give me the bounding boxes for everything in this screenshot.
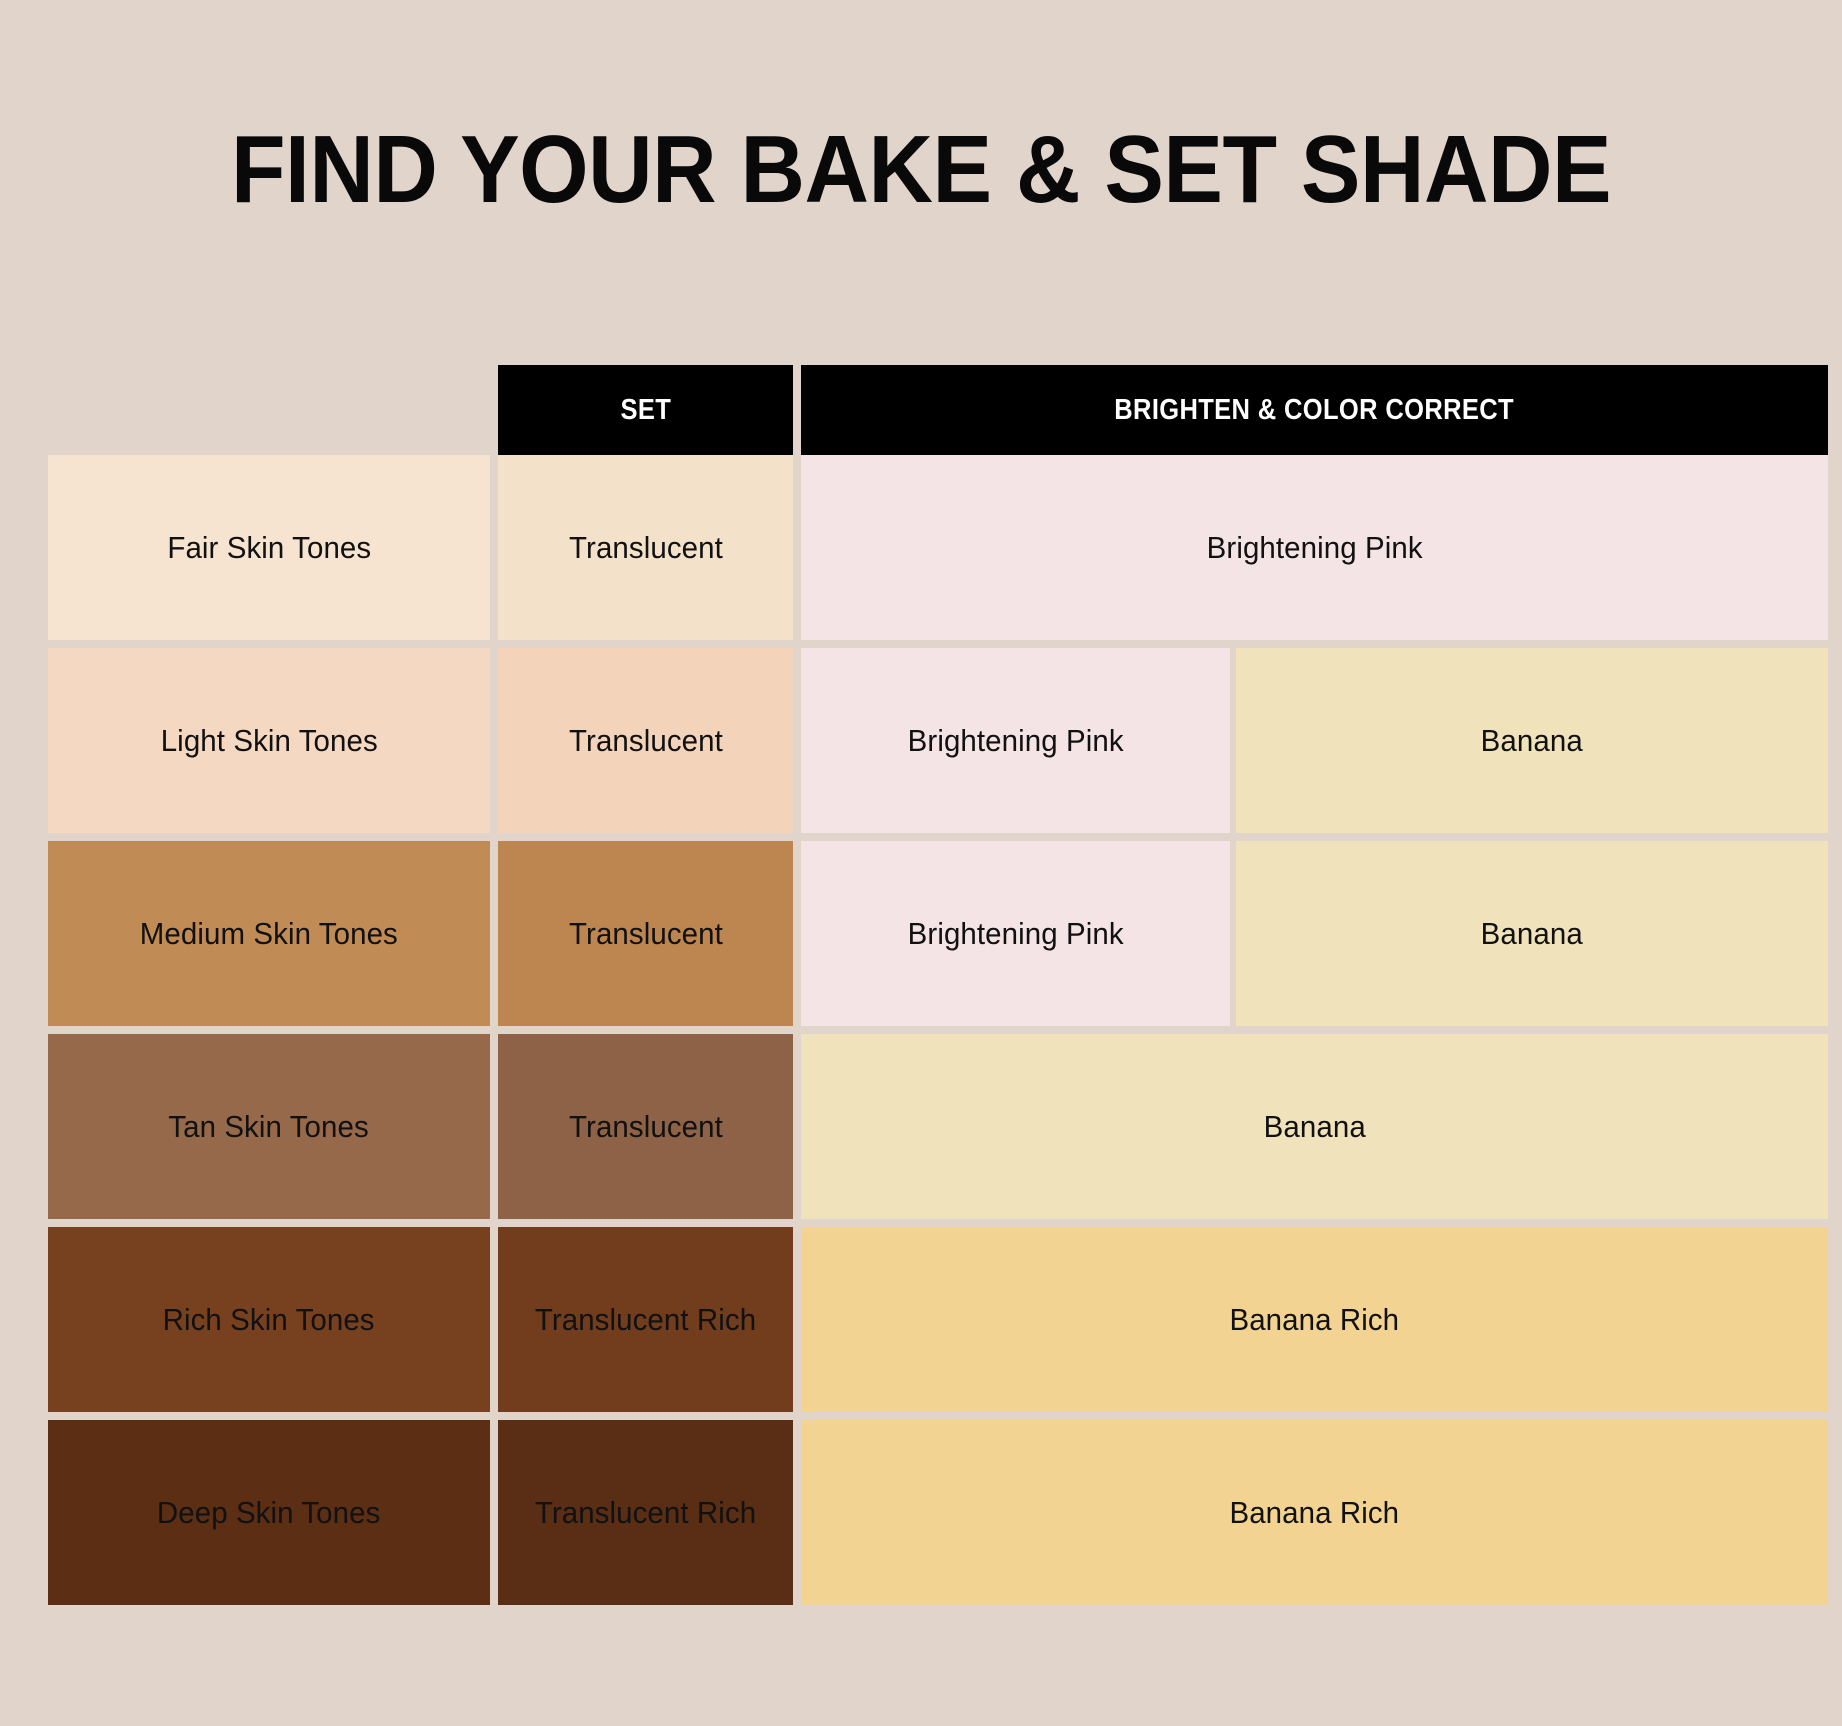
cell-set-shade: Translucent Rich xyxy=(498,1420,793,1605)
cell-skin-tone: Tan Skin Tones xyxy=(48,1034,490,1219)
cell-correct-shade: Brightening Pink xyxy=(801,455,1828,640)
cell-skin-tone: Deep Skin Tones xyxy=(48,1420,490,1605)
column-divider xyxy=(793,1034,801,1219)
cell-set-shade: Translucent xyxy=(498,841,793,1026)
correct-shade-label: Brightening Pink xyxy=(1206,530,1422,566)
cell-skin-tone: Medium Skin Tones xyxy=(48,841,490,1026)
set-shade-label: Translucent xyxy=(569,530,723,566)
cell-group-brighten-color-correct: Banana xyxy=(801,1034,1828,1219)
cell-group-brighten-color-correct: Brightening Pink xyxy=(801,455,1828,640)
cell-set-shade: Translucent xyxy=(498,1034,793,1219)
table-row: Medium Skin TonesTranslucentBrightening … xyxy=(48,841,1828,1026)
skin-tone-label: Rich Skin Tones xyxy=(163,1302,375,1338)
table-row: Tan Skin TonesTranslucentBanana xyxy=(48,1034,1828,1219)
table-row: Light Skin TonesTranslucentBrightening P… xyxy=(48,648,1828,833)
set-shade-label: Translucent xyxy=(569,1109,723,1145)
correct-shade-label: Brightening Pink xyxy=(907,723,1123,759)
table-header-row: SET BRIGHTEN & COLOR CORRECT xyxy=(48,365,1828,455)
cell-group-brighten-color-correct: Banana Rich xyxy=(801,1227,1828,1412)
table-row: Fair Skin TonesTranslucentBrightening Pi… xyxy=(48,455,1828,640)
correct-shade-label: Banana xyxy=(1481,723,1583,759)
correct-shade-label: Banana xyxy=(1263,1109,1365,1145)
table-row: Rich Skin TonesTranslucent RichBanana Ri… xyxy=(48,1227,1828,1412)
page-title: FIND YOUR BAKE & SET SHADE xyxy=(231,122,1611,218)
cell-group-brighten-color-correct: Banana Rich xyxy=(801,1420,1828,1605)
skin-tone-label: Deep Skin Tones xyxy=(157,1495,381,1531)
skin-tone-label: Tan Skin Tones xyxy=(169,1109,370,1145)
cell-correct-shade: Banana xyxy=(801,1034,1828,1219)
column-header-brighten-color-correct: BRIGHTEN & COLOR CORRECT xyxy=(801,365,1828,455)
cell-skin-tone: Fair Skin Tones xyxy=(48,455,490,640)
cell-correct-shade: Banana xyxy=(1236,648,1828,833)
cell-set-shade: Translucent Rich xyxy=(498,1227,793,1412)
cell-correct-shade: Banana Rich xyxy=(801,1420,1828,1605)
correct-shade-label: Banana Rich xyxy=(1230,1302,1400,1338)
cell-skin-tone: Rich Skin Tones xyxy=(48,1227,490,1412)
column-divider xyxy=(490,841,498,1026)
column-divider xyxy=(793,1420,801,1605)
column-header-set-label: SET xyxy=(620,394,671,427)
column-divider xyxy=(490,455,498,640)
column-divider xyxy=(793,841,801,1026)
set-shade-label: Translucent Rich xyxy=(535,1495,756,1531)
table-body: Fair Skin TonesTranslucentBrightening Pi… xyxy=(48,455,1828,1605)
skin-tone-label: Fair Skin Tones xyxy=(167,530,371,566)
set-shade-label: Translucent xyxy=(569,723,723,759)
correct-shade-label: Banana xyxy=(1481,916,1583,952)
shade-chart-table: SET BRIGHTEN & COLOR CORRECT Fair Skin T… xyxy=(48,365,1828,1565)
column-divider xyxy=(490,1034,498,1219)
cell-set-shade: Translucent xyxy=(498,648,793,833)
header-tone-spacer xyxy=(48,365,490,455)
column-divider xyxy=(490,1420,498,1605)
skin-tone-label: Light Skin Tones xyxy=(160,723,377,759)
column-divider xyxy=(490,1227,498,1412)
cell-group-brighten-color-correct: Brightening PinkBanana xyxy=(801,648,1828,833)
column-divider xyxy=(793,455,801,640)
set-shade-label: Translucent Rich xyxy=(535,1302,756,1338)
correct-shade-label: Banana Rich xyxy=(1230,1495,1400,1531)
header-gap-2 xyxy=(793,365,801,455)
page-title-container: FIND YOUR BAKE & SET SHADE xyxy=(0,58,1842,283)
cell-group-brighten-color-correct: Brightening PinkBanana xyxy=(801,841,1828,1026)
table-row: Deep Skin TonesTranslucent RichBanana Ri… xyxy=(48,1420,1828,1605)
column-divider xyxy=(793,648,801,833)
column-divider xyxy=(490,648,498,833)
header-gap-1 xyxy=(490,365,498,455)
cell-correct-shade: Banana xyxy=(1236,841,1828,1026)
column-divider xyxy=(793,1227,801,1412)
skin-tone-label: Medium Skin Tones xyxy=(140,916,398,952)
column-header-brighten-label: BRIGHTEN & COLOR CORRECT xyxy=(1115,394,1515,427)
correct-shade-label: Brightening Pink xyxy=(907,916,1123,952)
cell-correct-shade: Banana Rich xyxy=(801,1227,1828,1412)
cell-correct-shade: Brightening Pink xyxy=(801,841,1230,1026)
cell-set-shade: Translucent xyxy=(498,455,793,640)
cell-correct-shade: Brightening Pink xyxy=(801,648,1230,833)
column-header-set: SET xyxy=(498,365,793,455)
set-shade-label: Translucent xyxy=(569,916,723,952)
cell-skin-tone: Light Skin Tones xyxy=(48,648,490,833)
